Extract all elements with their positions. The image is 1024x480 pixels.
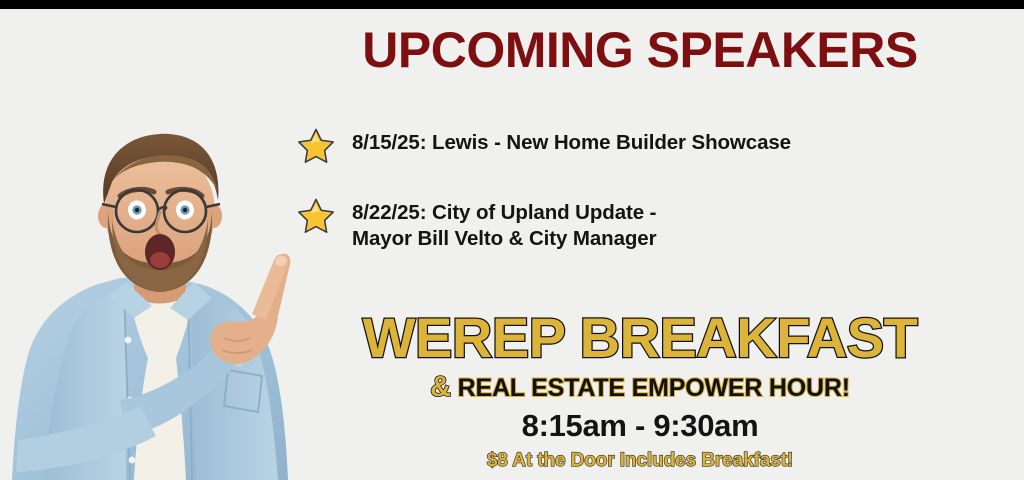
- event-time: 8:15am - 9:30am: [284, 410, 996, 441]
- star-icon: [296, 126, 336, 166]
- star-icon: [296, 196, 336, 236]
- top-black-bar: [0, 0, 1024, 9]
- speaker-entry-line: 8/22/25: City of Upland Update -: [352, 201, 656, 224]
- speaker-entry-text: 8/22/25: City of Upland Update - Mayor B…: [352, 196, 656, 252]
- event-subtitle: & REAL ESTATE EMPOWER HOUR!: [284, 373, 996, 402]
- poster-canvas: UPCOMING SPEAKERS 8/15/25: Lewis - New H…: [0, 0, 1024, 480]
- speaker-entry-line: Mayor Bill Velto & City Manager: [352, 227, 656, 250]
- ampersand-symbol: &: [430, 371, 451, 403]
- upcoming-speakers-list: 8/15/25: Lewis - New Home Builder Showca…: [296, 126, 996, 282]
- list-item: 8/22/25: City of Upland Update - Mayor B…: [296, 196, 996, 252]
- event-title: WEREP BREAKFAST: [284, 310, 996, 366]
- event-price-note: $8 At the Door Includes Breakfast!: [284, 451, 996, 470]
- list-item: 8/15/25: Lewis - New Home Builder Showca…: [296, 126, 996, 166]
- surprised-man-pointing-illustration: [0, 100, 300, 480]
- event-subtitle-text: REAL ESTATE EMPOWER HOUR!: [458, 374, 850, 402]
- event-details-block: WEREP BREAKFAST & REAL ESTATE EMPOWER HO…: [284, 310, 996, 470]
- speaker-entry-text: 8/15/25: Lewis - New Home Builder Showca…: [352, 126, 791, 156]
- presenter-photo: [0, 100, 300, 480]
- page-title: UPCOMING SPEAKERS: [300, 24, 980, 77]
